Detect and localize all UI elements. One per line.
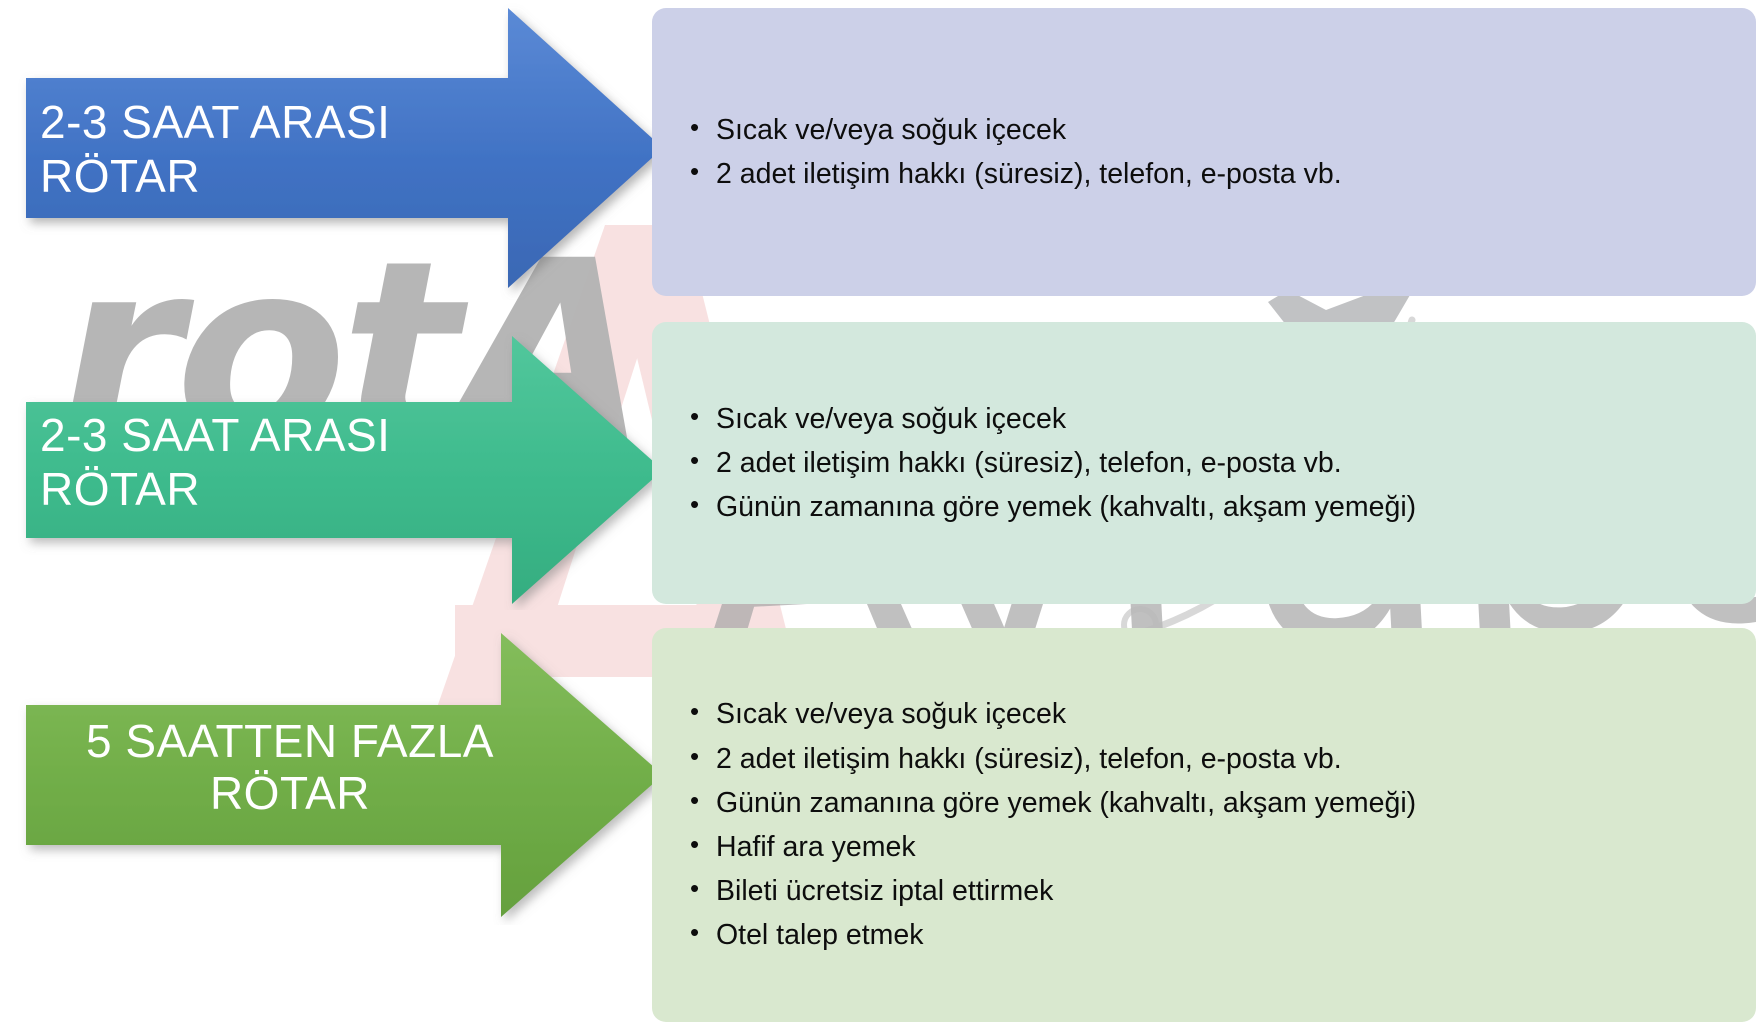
diagram-canvas: rotA Avrupa 2-3 SAAT ARASI RÖTAR <box>0 0 1756 1029</box>
list-item: Otel talep etmek <box>686 913 1722 957</box>
list-item: Hafif ara yemek <box>686 825 1722 869</box>
list-item: 2 adet iletişim hakkı (süresiz), telefon… <box>686 152 1722 196</box>
arrow-label-row-2: 2-3 SAAT ARASI RÖTAR <box>40 402 560 522</box>
benefits-list-row-2: Sıcak ve/veya soğuk içecek 2 adet iletiş… <box>686 397 1722 530</box>
list-item: Sıcak ve/veya soğuk içecek <box>686 692 1722 736</box>
benefits-panel-row-3: Sıcak ve/veya soğuk içecek 2 adet iletiş… <box>652 628 1756 1022</box>
benefits-list-row-3: Sıcak ve/veya soğuk içecek 2 adet iletiş… <box>686 692 1722 957</box>
benefits-list-row-1: Sıcak ve/veya soğuk içecek 2 adet iletiş… <box>686 108 1722 196</box>
list-item: Sıcak ve/veya soğuk içecek <box>686 397 1722 441</box>
list-item: Sıcak ve/veya soğuk içecek <box>686 108 1722 152</box>
arrow-label-row-1: 2-3 SAAT ARASI RÖTAR <box>40 85 560 213</box>
list-item: Günün zamanına göre yemek (kahvaltı, akş… <box>686 485 1722 529</box>
arrow-label-row-3: 5 SAATTEN FAZLA RÖTAR <box>40 700 540 836</box>
benefits-panel-row-2: Sıcak ve/veya soğuk içecek 2 adet iletiş… <box>652 322 1756 604</box>
list-item: 2 adet iletişim hakkı (süresiz), telefon… <box>686 737 1722 781</box>
benefits-panel-row-1: Sıcak ve/veya soğuk içecek 2 adet iletiş… <box>652 8 1756 296</box>
list-item: Bileti ücretsiz iptal ettirmek <box>686 869 1722 913</box>
list-item: Günün zamanına göre yemek (kahvaltı, akş… <box>686 781 1722 825</box>
list-item: 2 adet iletişim hakkı (süresiz), telefon… <box>686 441 1722 485</box>
